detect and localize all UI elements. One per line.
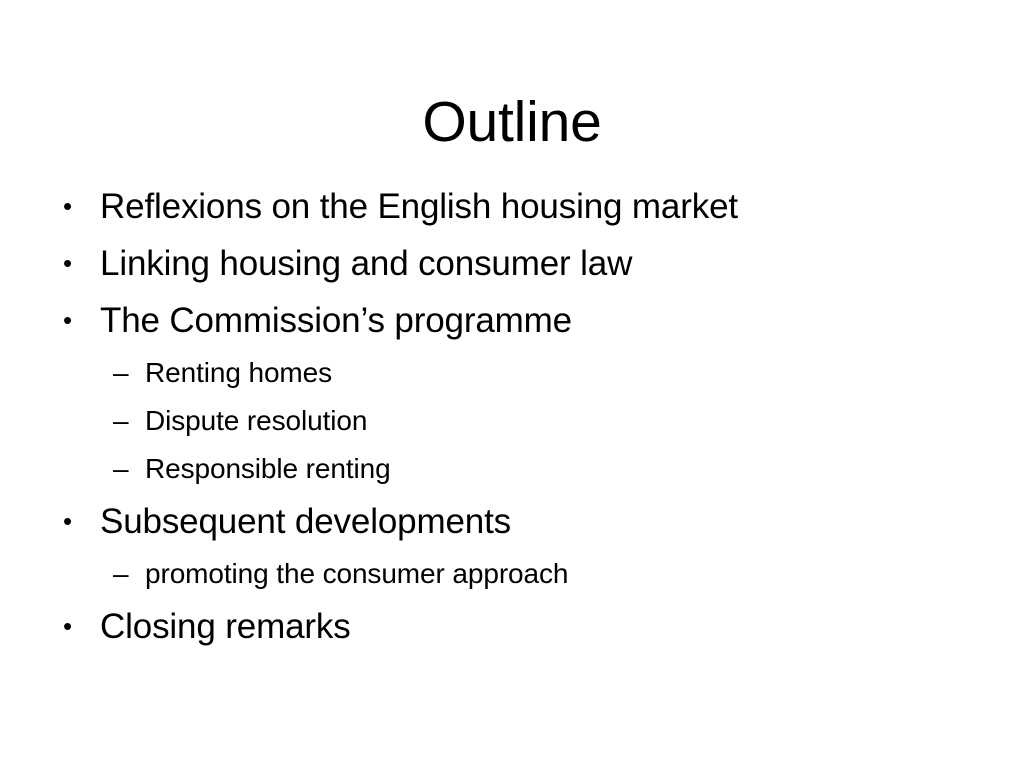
list-item-label: Reflexions on the English housing market [100, 178, 738, 235]
sub-list-item: – Dispute resolution [58, 397, 988, 445]
dash-marker-icon: – [113, 349, 145, 397]
dash-marker-icon: – [113, 550, 145, 598]
sub-list-item: – Renting homes [58, 349, 988, 397]
list-item-label: Closing remarks [100, 598, 351, 655]
sub-list-item: – promoting the consumer approach [58, 550, 988, 598]
list-item: • The Commission’s programme [58, 292, 988, 349]
bullet-marker-icon: • [58, 292, 100, 349]
sub-list-item-label: Dispute resolution [145, 397, 367, 445]
list-item: • Subsequent developments [58, 493, 988, 550]
presentation-slide: Outline • Reflexions on the English hous… [0, 0, 1024, 768]
sub-list-item-label: promoting the consumer approach [145, 550, 568, 598]
sub-list-item-label: Responsible renting [145, 445, 391, 493]
list-item-label: Linking housing and consumer law [100, 235, 632, 292]
list-item: • Closing remarks [58, 598, 988, 655]
sub-list-item-label: Renting homes [145, 349, 332, 397]
list-item-label: The Commission’s programme [100, 292, 572, 349]
sub-list-item: – Responsible renting [58, 445, 988, 493]
slide-bullet-list: • Reflexions on the English housing mark… [58, 178, 988, 655]
page-title: Outline [0, 93, 1024, 153]
bullet-marker-icon: • [58, 235, 100, 292]
dash-marker-icon: – [113, 445, 145, 493]
bullet-marker-icon: • [58, 598, 100, 655]
list-item: • Linking housing and consumer law [58, 235, 988, 292]
list-item: • Reflexions on the English housing mark… [58, 178, 988, 235]
dash-marker-icon: – [113, 397, 145, 445]
list-item-label: Subsequent developments [100, 493, 511, 550]
bullet-marker-icon: • [58, 493, 100, 550]
bullet-marker-icon: • [58, 178, 100, 235]
